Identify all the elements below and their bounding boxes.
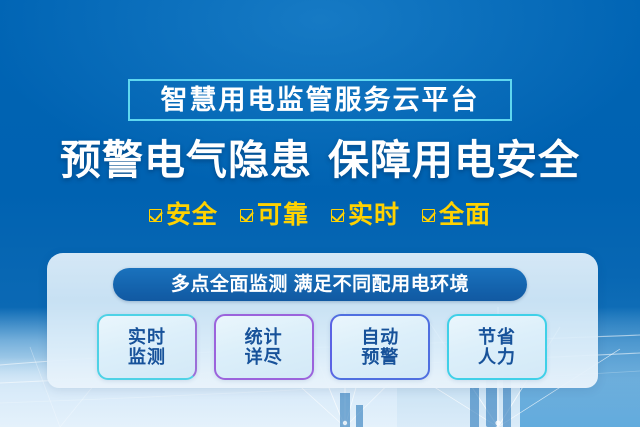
card-line-1: 自动 [361, 327, 399, 347]
card-line-2: 人力 [478, 347, 516, 367]
feature-label: 可靠 [257, 203, 309, 228]
check-box-icon [422, 209, 435, 222]
check-box-icon [331, 209, 344, 222]
check-box-icon [149, 209, 162, 222]
card-line-1: 实时 [128, 327, 166, 347]
platform-title-text: 智慧用电监管服务云平台 [161, 87, 480, 114]
feature-card-realtime-monitoring[interactable]: 实时 监测 [97, 314, 197, 380]
panel-subtitle-text: 多点全面监测 满足不同配用电环境 [171, 275, 469, 294]
feature-item-2: 实时 [331, 203, 400, 228]
feature-card-save-manpower[interactable]: 节省 人力 [447, 314, 547, 380]
feature-item-3: 全面 [422, 203, 491, 228]
feature-card-detailed-statistics[interactable]: 统计 详尽 [214, 314, 314, 380]
card-line-2: 监测 [128, 347, 166, 367]
card-line-2: 预警 [361, 347, 399, 367]
headline-part-2: 保障用电安全 [328, 137, 580, 183]
platform-title-box: 智慧用电监管服务云平台 [128, 79, 512, 121]
feature-card-list: 实时 监测 统计 详尽 自动 预警 节省 人力 [97, 314, 547, 380]
headline-part-1: 预警电气隐患 [60, 137, 312, 183]
feature-label: 实时 [348, 203, 400, 228]
main-headline: 预警电气隐患保障用电安全 [0, 138, 640, 183]
card-line-1: 统计 [245, 327, 283, 347]
feature-label: 安全 [166, 203, 218, 228]
check-box-icon [240, 209, 253, 222]
panel-subtitle-pill: 多点全面监测 满足不同配用电环境 [113, 268, 527, 301]
feature-label: 全面 [439, 203, 491, 228]
feature-item-0: 安全 [149, 203, 218, 228]
feature-card-automatic-alarm[interactable]: 自动 预警 [330, 314, 430, 380]
card-line-1: 节省 [478, 327, 516, 347]
card-line-2: 详尽 [245, 347, 283, 367]
feature-item-1: 可靠 [240, 203, 309, 228]
feature-check-row: 安全 可靠 实时 全面 [0, 203, 640, 228]
